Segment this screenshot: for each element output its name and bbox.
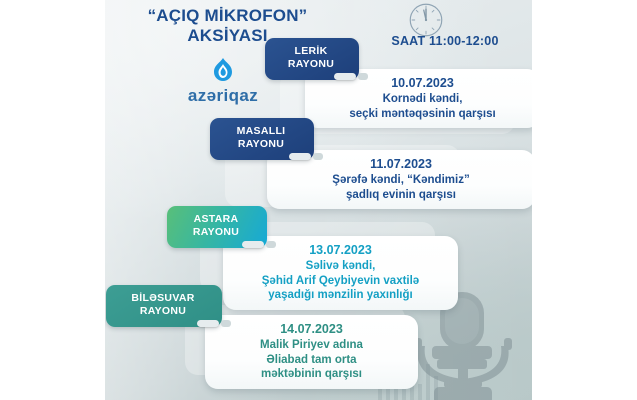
poster-title-line1: “AÇIQ MİKROFON” bbox=[148, 6, 308, 25]
event-address-line2: Şəhid Arif Qeybiyevin vaxtilə bbox=[233, 274, 448, 289]
poster-root: “AÇIQ MİKROFON” AKSİYASI azəriqaz bbox=[0, 0, 637, 400]
event-address-line3: məktəbinin qarşısı bbox=[215, 367, 408, 382]
region-badge-line2: RAYONU bbox=[275, 58, 347, 71]
event-address-line1: Şərəfə kəndi, “Kəndimiz” bbox=[277, 173, 525, 188]
region-badge-astara[interactable]: ASTARA RAYONU bbox=[167, 206, 267, 248]
info-card-bilasuvar[interactable]: 14.07.2023 Malik Piriyev adına Əliabad t… bbox=[205, 315, 418, 389]
clock-icon bbox=[408, 2, 444, 38]
region-badge-masalli[interactable]: MASALLI RAYONU bbox=[210, 118, 314, 160]
connector-plug-icon bbox=[205, 316, 235, 331]
connector-plug-icon bbox=[250, 237, 280, 252]
region-badge-line2: RAYONU bbox=[177, 226, 255, 239]
event-address-line1: Kornədi kəndi, bbox=[315, 92, 530, 107]
flame-icon bbox=[212, 58, 234, 84]
event-date: 14.07.2023 bbox=[215, 321, 408, 338]
event-address-line1: Malik Piriyev adına bbox=[215, 338, 408, 353]
connector-plug-icon bbox=[297, 149, 327, 164]
region-badge-line1: LERİK bbox=[275, 45, 347, 58]
event-address-line3: yaşadığı mənzilin yaxınlığı bbox=[233, 288, 448, 303]
event-address-line2: Əliabad tam orta bbox=[215, 353, 408, 368]
azeriqaz-wordmark: azəriqaz bbox=[143, 86, 303, 106]
region-badge-line1: MASALLI bbox=[220, 125, 302, 138]
event-address-line2: seçki məntəqəsinin qarşısı bbox=[315, 107, 530, 122]
region-badge-bilasuvar[interactable]: BİLƏSUVAR RAYONU bbox=[106, 285, 222, 327]
event-address-line2: şadlıq evinin qarşısı bbox=[277, 188, 525, 203]
region-badge-lerik[interactable]: LERİK RAYONU bbox=[265, 38, 359, 80]
region-badge-line1: ASTARA bbox=[177, 213, 255, 226]
connector-plug-icon bbox=[342, 69, 372, 84]
region-badge-line2: RAYONU bbox=[116, 305, 210, 318]
region-badge-line1: BİLƏSUVAR bbox=[116, 292, 210, 305]
time-label: SAAT 11:00-12:00 bbox=[360, 34, 530, 48]
region-badge-line2: RAYONU bbox=[220, 138, 302, 151]
event-address-line1: Səlivə kəndi, bbox=[233, 259, 448, 274]
poster-artboard: “AÇIQ MİKROFON” AKSİYASI azəriqaz bbox=[105, 0, 532, 400]
